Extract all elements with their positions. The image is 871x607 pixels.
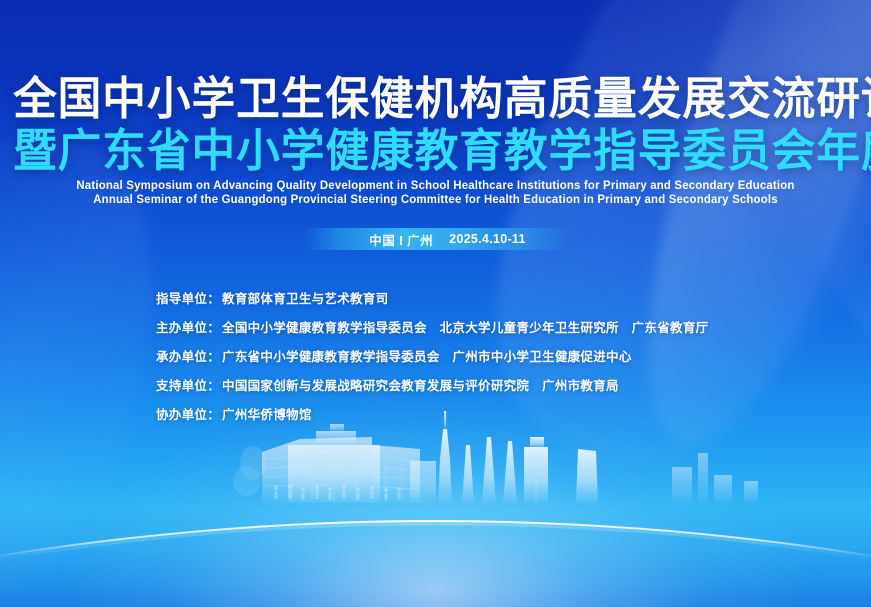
- organization-label: 协办单位：: [156, 404, 220, 423]
- canton-tower-icon: [438, 411, 452, 503]
- city-skyline-illustration: [0, 407, 871, 607]
- horizon-arc: [0, 407, 871, 607]
- organization-label: 承办单位：: [156, 346, 220, 365]
- organization-row: 承办单位： 广东省中小学健康教育教学指导委员会 广州市中小学卫生健康促进中心: [156, 346, 708, 365]
- background-ribbon-c: [721, 0, 871, 414]
- organization-value: 全国中小学健康教育教学指导委员会 北京大学儿童青少年卫生研究所 广东省教育厅: [222, 317, 708, 336]
- school-windows: [266, 439, 418, 501]
- organization-list: 指导单位： 教育部体育卫生与艺术教育司 主办单位： 全国中小学健康教育教学指导委…: [156, 288, 708, 423]
- conference-poster: 全国中小学卫生保健机构高质量发展交流研讨活动 暨广东省中小学健康教育教学指导委员…: [0, 0, 871, 607]
- organization-value: 教育部体育卫生与艺术教育司: [222, 288, 388, 307]
- school-building-icon: [262, 424, 436, 503]
- skyscraper-mid-icon: [576, 449, 598, 503]
- skyscraper-far-icon: [672, 453, 758, 503]
- stepped-tower-icon: [524, 437, 548, 503]
- stepped-tower-windows: [526, 449, 546, 501]
- organization-row: 支持单位： 中国国家创新与发展战略研究会教育发展与评价研究院 广州市教育局: [156, 375, 708, 394]
- subtitle-english-line1: National Symposium on Advancing Quality …: [4, 180, 866, 192]
- organization-row: 协办单位： 广州华侨博物馆: [156, 404, 708, 423]
- organization-label: 支持单位：: [156, 375, 220, 394]
- subtitle-english-line2: Annual Seminar of the Guangdong Provinci…: [4, 194, 866, 206]
- organization-value: 广东省中小学健康教育教学指导委员会 广州市中小学卫生健康促进中心: [222, 346, 632, 365]
- ground-glow: [56, 400, 816, 607]
- location-date-banner: 中国 I 广州 2025.4.10-11: [304, 228, 568, 250]
- organization-label: 指导单位：: [156, 288, 220, 307]
- banner-date: 2025.4.10-11: [449, 232, 526, 246]
- organization-value: 中国国家创新与发展战略研究会教育发展与评价研究院 广州市教育局: [222, 375, 619, 394]
- tree-cluster-icon: [233, 446, 266, 496]
- spire-towers-icon: [462, 437, 517, 503]
- organization-row: 主办单位： 全国中小学健康教育教学指导委员会 北京大学儿童青少年卫生研究所 广东…: [156, 317, 708, 336]
- organization-value: 广州华侨博物馆: [222, 404, 312, 423]
- page-title-line1: 全国中小学卫生保健机构高质量发展交流研讨活动: [13, 76, 858, 121]
- organization-label: 主办单位：: [156, 317, 220, 336]
- organization-row: 指导单位： 教育部体育卫生与艺术教育司: [156, 288, 708, 307]
- page-title-line2: 暨广东省中小学健康教育教学指导委员会年度研讨活动: [13, 128, 858, 173]
- banner-location: 中国 I 广州: [369, 230, 433, 249]
- student-figures: [274, 485, 401, 500]
